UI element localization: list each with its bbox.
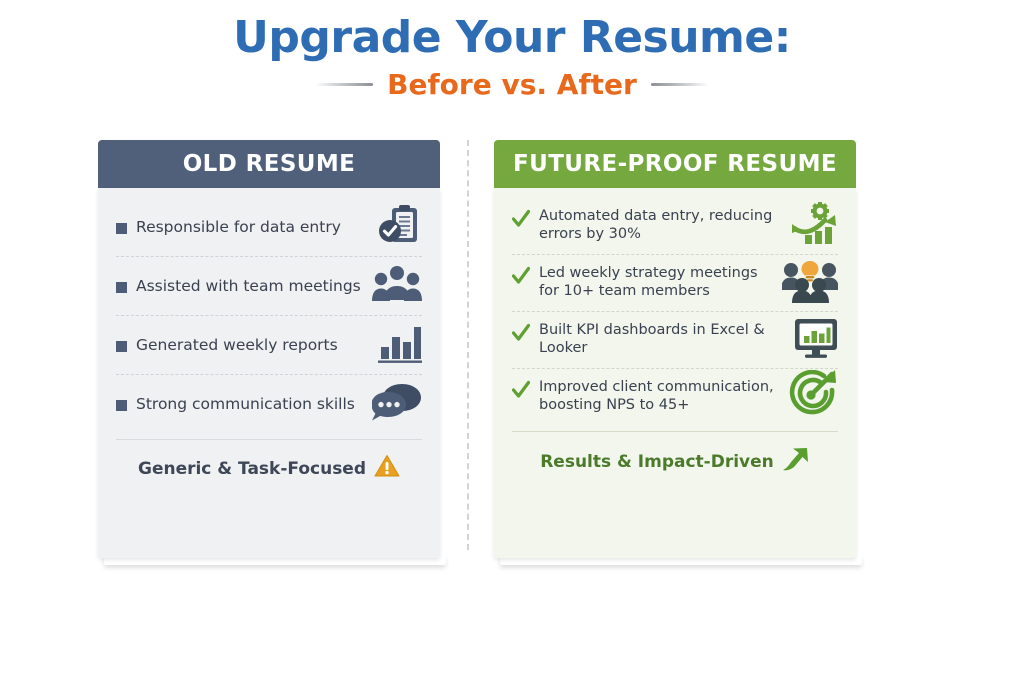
list-item-label: Automated data entry, reducing errors by… — [539, 208, 782, 243]
list-item-text: Improved client communication, boosting … — [512, 379, 776, 414]
square-bullet-icon — [116, 282, 127, 293]
old-resume-footer-label: Generic & Task-Focused — [138, 459, 366, 479]
list-item: Assisted with team meetings — [116, 257, 422, 316]
old-resume-panel: OLD RESUME Responsible for data entry — [98, 140, 440, 558]
list-item-text: Led weekly strategy meetings for 10+ tea… — [512, 265, 772, 300]
green-check-icon — [512, 209, 530, 229]
list-item: Strong communication skills — [116, 375, 422, 433]
list-item-text: Automated data entry, reducing errors by… — [512, 208, 782, 243]
square-bullet-icon — [116, 223, 127, 234]
future-proof-resume-footer-label: Results & Impact-Driven — [540, 452, 774, 472]
list-item-label: Generated weekly reports — [136, 336, 338, 355]
clipboard-check-icon — [376, 203, 422, 252]
list-item-text: Assisted with team meetings — [116, 277, 362, 296]
list-item-text: Built KPI dashboards in Excel & Looker — [512, 322, 784, 357]
list-item-label: Built KPI dashboards in Excel & Looker — [539, 322, 784, 357]
list-item: Automated data entry, reducing errors by… — [512, 198, 838, 255]
list-item: Responsible for data entry — [116, 198, 422, 257]
list-item-label: Led weekly strategy meetings for 10+ tea… — [539, 265, 772, 300]
subtitle-rule-right — [651, 83, 709, 86]
center-divider — [467, 140, 471, 550]
list-item-text: Strong communication skills — [116, 395, 362, 414]
title-block: Upgrade Your Resume: Before vs. After — [0, 14, 1024, 101]
up-arrow-icon — [782, 446, 810, 477]
old-resume-body: Responsible for data entry — [98, 188, 440, 558]
square-bullet-icon — [116, 341, 127, 352]
future-proof-resume-footer: Results & Impact-Driven — [512, 431, 838, 477]
page-subtitle: Before vs. After — [387, 68, 637, 101]
green-check-icon — [512, 323, 530, 343]
square-bullet-icon — [116, 400, 127, 411]
list-item-label: Improved client communication, boosting … — [539, 379, 776, 414]
subtitle-rule-left — [315, 83, 373, 86]
warning-triangle-icon — [374, 454, 400, 483]
list-item: Generated weekly reports — [116, 316, 422, 375]
old-resume-header: OLD RESUME — [98, 140, 440, 188]
green-check-icon — [512, 266, 530, 286]
old-resume-footer: Generic & Task-Focused — [116, 439, 422, 483]
list-item-text: Responsible for data entry — [116, 218, 366, 237]
target-arrow-icon — [786, 370, 838, 425]
speech-bubbles-icon — [372, 382, 422, 427]
monitor-chart-icon — [794, 317, 838, 364]
page-title: Upgrade Your Resume: — [0, 14, 1024, 62]
team-group-icon — [372, 264, 422, 309]
list-item-label: Responsible for data entry — [136, 218, 341, 237]
list-item-label: Assisted with team meetings — [136, 277, 361, 296]
future-proof-resume-body: Automated data entry, reducing errors by… — [494, 188, 856, 558]
list-item-label: Strong communication skills — [136, 395, 355, 414]
list-item: Built KPI dashboards in Excel & Looker — [512, 312, 838, 369]
future-proof-resume-header: FUTURE-PROOF RESUME — [494, 140, 856, 188]
team-idea-icon — [782, 259, 838, 308]
subtitle-row: Before vs. After — [0, 68, 1024, 101]
future-proof-resume-panel: FUTURE-PROOF RESUME Automated data entry… — [494, 140, 856, 558]
list-item: Led weekly strategy meetings for 10+ tea… — [512, 255, 838, 312]
green-check-icon — [512, 380, 530, 400]
bar-chart-icon — [378, 323, 422, 368]
gear-growth-arrow-icon — [792, 202, 838, 251]
list-item: Improved client communication, boosting … — [512, 369, 838, 425]
list-item-text: Generated weekly reports — [116, 336, 368, 355]
